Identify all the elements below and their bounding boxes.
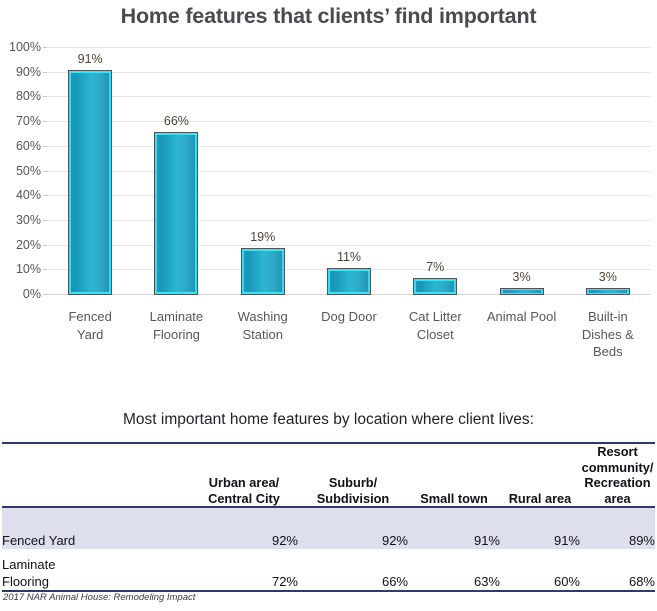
table-row-label: LaminateFlooring bbox=[2, 549, 190, 591]
table-cell-value: 91% bbox=[500, 507, 580, 549]
bar-value-label: 3% bbox=[574, 270, 642, 284]
x-axis-category-label: Built-inDishes &Beds bbox=[565, 308, 651, 361]
x-axis-category-line: Washing bbox=[220, 308, 306, 326]
x-axis-category-line: Cat Litter bbox=[392, 308, 478, 326]
table-cell-value: 91% bbox=[408, 507, 500, 549]
table-row-label: Fenced Yard bbox=[2, 507, 190, 549]
bar[interactable] bbox=[327, 268, 371, 295]
bar-slot: 3% bbox=[500, 47, 544, 295]
table-row-label-line: Fenced Yard bbox=[2, 532, 190, 549]
x-axis-category-line: Dog Door bbox=[306, 308, 392, 326]
table-cell-value: 89% bbox=[580, 507, 655, 549]
bar-slot: 11% bbox=[327, 47, 371, 295]
bar[interactable] bbox=[413, 278, 457, 295]
bar-value-label: 66% bbox=[142, 114, 210, 128]
table-column-header: Resortcommunity/Recreation area bbox=[580, 443, 655, 507]
table-row: Fenced Yard92%92%91%91%89% bbox=[2, 507, 655, 549]
bar[interactable] bbox=[154, 132, 198, 295]
y-axis-tick-label: 30% bbox=[0, 213, 41, 227]
x-axis-category-label: Cat LitterCloset bbox=[392, 308, 478, 343]
y-axis-tick-label: 0% bbox=[0, 287, 41, 301]
x-axis-category-line: Flooring bbox=[133, 326, 219, 344]
y-axis-tick-label: 80% bbox=[0, 89, 41, 103]
bar-value-label: 11% bbox=[315, 250, 383, 264]
table-column-header: Urban area/Central City bbox=[190, 443, 298, 507]
bar-slot: 19% bbox=[241, 47, 285, 295]
table-header-line: Urban area/ bbox=[190, 475, 298, 491]
table-section-title: Most important home features by location… bbox=[0, 411, 657, 429]
y-axis-tick-label: 60% bbox=[0, 139, 41, 153]
y-axis-tick-label: 70% bbox=[0, 114, 41, 128]
slide-root: Home features that clients’ find importa… bbox=[0, 0, 657, 611]
bar-slot: 91% bbox=[68, 47, 112, 295]
bar[interactable] bbox=[68, 70, 112, 295]
table-body: Fenced Yard92%92%91%91%89%LaminateFloori… bbox=[2, 507, 655, 591]
x-axis-category-line: Station bbox=[220, 326, 306, 344]
table-column-header: Small town bbox=[408, 443, 500, 507]
table-header-line: Recreation area bbox=[580, 475, 655, 506]
table-header-line: Suburb/ bbox=[298, 475, 408, 491]
table-cell-value: 92% bbox=[190, 507, 298, 549]
x-axis-category-line: Animal Pool bbox=[478, 308, 564, 326]
table-cell-value: 68% bbox=[580, 549, 655, 591]
y-axis-tick-label: 20% bbox=[0, 238, 41, 252]
bar-value-label: 3% bbox=[488, 270, 556, 284]
x-axis-category-line: Fenced bbox=[47, 308, 133, 326]
y-axis-tick-label: 90% bbox=[0, 65, 41, 79]
table-row-label-line: Laminate bbox=[2, 556, 190, 573]
table-header-line: community/ bbox=[580, 460, 655, 476]
table-column-header: Rural area bbox=[500, 443, 580, 507]
y-axis-tick-label: 100% bbox=[0, 40, 41, 54]
bar-chart: 100%90%80%70%60%50%40%30%20%10%0% 91%66%… bbox=[0, 38, 657, 300]
y-axis-tick-label: 40% bbox=[0, 188, 41, 202]
table-cell-value: 72% bbox=[190, 549, 298, 591]
table-header-line: Resort bbox=[580, 444, 655, 460]
bar-series: 91%66%19%11%7%3%3% bbox=[47, 47, 651, 295]
table-header-corner bbox=[2, 443, 190, 507]
table-cell-value: 92% bbox=[298, 507, 408, 549]
table-head: Urban area/Central CitySuburb/Subdivisio… bbox=[2, 443, 655, 507]
table-cell-value: 66% bbox=[298, 549, 408, 591]
x-axis-category-label: LaminateFlooring bbox=[133, 308, 219, 343]
location-table-wrapper: Urban area/Central CitySuburb/Subdivisio… bbox=[2, 442, 655, 592]
bar[interactable] bbox=[241, 248, 285, 295]
x-axis-category-line: Beds bbox=[565, 343, 651, 361]
table-header-line: Small town bbox=[408, 491, 500, 507]
bar-value-label: 19% bbox=[229, 230, 297, 244]
x-axis-category-label: FencedYard bbox=[47, 308, 133, 343]
x-axis-category-line: Laminate bbox=[133, 308, 219, 326]
x-axis-category-label: Dog Door bbox=[306, 308, 392, 326]
bar-slot: 7% bbox=[413, 47, 457, 295]
location-table: Urban area/Central CitySuburb/Subdivisio… bbox=[2, 442, 655, 592]
bar-value-label: 91% bbox=[56, 52, 124, 66]
table-header-row: Urban area/Central CitySuburb/Subdivisio… bbox=[2, 443, 655, 507]
page-title: Home features that clients’ find importa… bbox=[0, 4, 657, 29]
table-row-label-line: Flooring bbox=[2, 573, 190, 590]
x-axis-category-line: Dishes & bbox=[565, 326, 651, 344]
bar-slot: 3% bbox=[586, 47, 630, 295]
table-header-line: Central City bbox=[190, 491, 298, 507]
table-header-line: Rural area bbox=[500, 491, 580, 507]
bar[interactable] bbox=[500, 288, 544, 295]
x-axis-labels: FencedYardLaminateFlooringWashingStation… bbox=[47, 308, 651, 386]
y-axis-tick-label: 50% bbox=[0, 164, 41, 178]
x-axis-category-line: Yard bbox=[47, 326, 133, 344]
table-cell-value: 60% bbox=[500, 549, 580, 591]
table-row: LaminateFlooring72%66%63%60%68% bbox=[2, 549, 655, 591]
x-axis-category-line: Closet bbox=[392, 326, 478, 344]
bar-value-label: 7% bbox=[401, 260, 469, 274]
source-footnote: 2017 NAR Animal House: Remodeling Impact bbox=[3, 592, 195, 603]
bar[interactable] bbox=[586, 288, 630, 295]
x-axis-category-label: Animal Pool bbox=[478, 308, 564, 326]
table-column-header: Suburb/Subdivision bbox=[298, 443, 408, 507]
table-cell-value: 63% bbox=[408, 549, 500, 591]
y-axis-tick-label: 10% bbox=[0, 262, 41, 276]
x-axis-category-line: Built-in bbox=[565, 308, 651, 326]
bar-slot: 66% bbox=[154, 47, 198, 295]
table-header-line: Subdivision bbox=[298, 491, 408, 507]
x-axis-category-label: WashingStation bbox=[220, 308, 306, 343]
